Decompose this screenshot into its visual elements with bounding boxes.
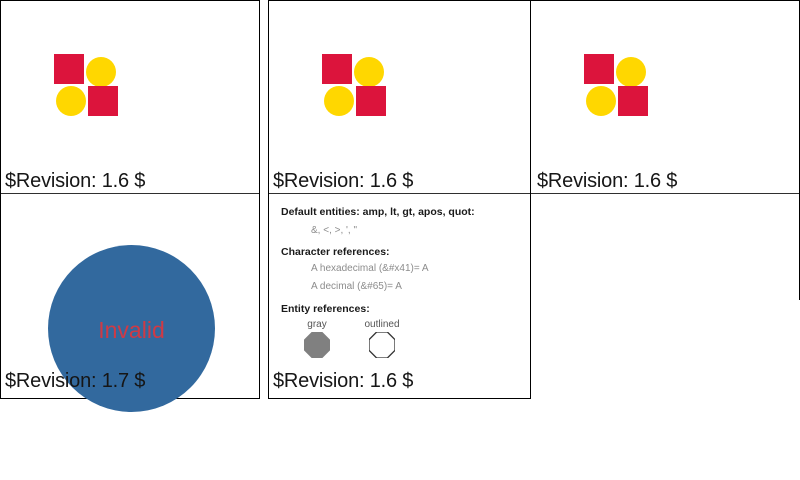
logo-square-top-left [584,54,614,84]
logo-circle-bottom-left [324,86,354,116]
octagon-gray-label: gray [295,319,339,331]
panel-middle: $Revision: 1.6 $ Default entities: amp, … [268,0,531,399]
logo-circle-bottom-left [56,86,86,116]
character-reference-hex: A hexadecimal (&#x41)= A [311,263,429,275]
revision-text-middle-top: $Revision: 1.6 $ [273,171,413,191]
logo-circle-top-right [354,57,384,87]
revision-text-right-top: $Revision: 1.6 $ [537,171,677,191]
logo-square-top-left [54,54,84,84]
logo-circle-top-right [86,57,116,87]
character-reference-decimal: A decimal (&#65)= A [311,281,402,293]
invalid-label: Invalid [48,319,215,342]
revision-text-middle-bottom: $Revision: 1.6 $ [273,371,413,391]
logo-middle [322,54,384,116]
panel-right: $Revision: 1.6 $ [530,0,800,300]
revision-divider-top-right [531,193,799,194]
revision-text-left-bottom: $Revision: 1.7 $ [5,371,145,391]
logo-right [584,54,646,116]
logo-left [54,54,116,116]
logo-square-bottom-right [356,86,386,116]
revision-divider-top-middle [269,193,530,194]
logo-square-top-left [322,54,352,84]
logo-square-bottom-right [88,86,118,116]
octagon-outlined-label: outlined [351,319,413,331]
default-entities-heading: Default entities: amp, lt, gt, apos, quo… [281,206,475,218]
revision-text-left-top: $Revision: 1.6 $ [5,171,145,191]
logo-square-bottom-right [618,86,648,116]
revision-divider-top-left [1,193,259,194]
default-entities-value: &, <, >, ', " [311,225,357,237]
panel-left: $Revision: 1.6 $ Invalid $Revision: 1.7 … [0,0,260,399]
logo-circle-top-right [616,57,646,87]
entity-references-heading: Entity references: [281,303,370,315]
logo-circle-bottom-left [586,86,616,116]
octagon-outlined-icon [369,332,395,358]
character-references-heading: Character references: [281,246,390,258]
octagon-gray-icon [304,332,330,358]
